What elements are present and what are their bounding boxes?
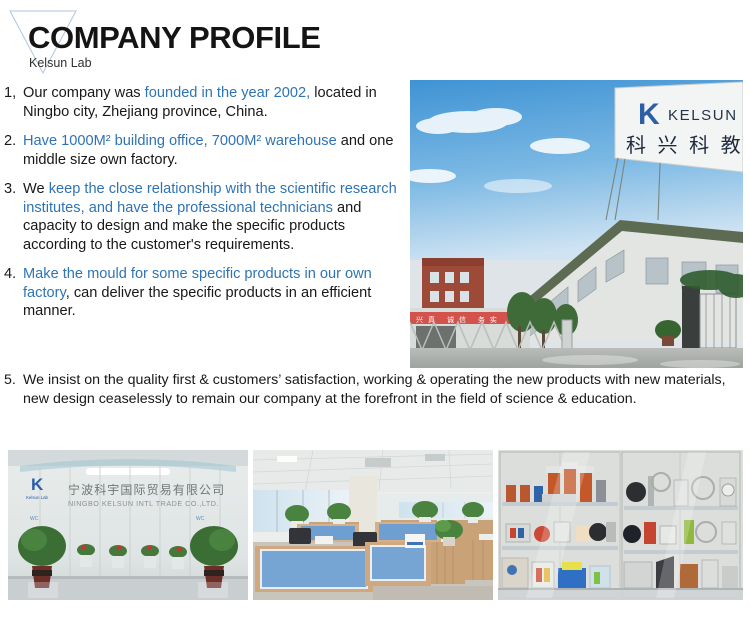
list-item-text: We keep the close relationship with the … bbox=[23, 180, 408, 254]
profile-list: 1,Our company was founded in the year 20… bbox=[4, 84, 408, 332]
text-segment: Have 1000M² building office, 7000M² ware… bbox=[23, 133, 337, 149]
profile-list-item: 3.We keep the close relationship with th… bbox=[4, 180, 408, 254]
svg-text:WC: WC bbox=[196, 516, 205, 522]
photo-factory-exterior: K KELSUN LAB 科 兴 科 教 兴真 诚信 务实 bbox=[410, 80, 743, 368]
list-item-text: Have 1000M² building office, 7000M² ware… bbox=[23, 132, 408, 169]
lobby-logo-letter: K bbox=[31, 475, 44, 494]
list-item-number: 5. bbox=[4, 371, 23, 390]
page-header: COMPANY PROFILE Kelsun Lab bbox=[0, 0, 420, 82]
profile-list-item: 1,Our company was founded in the year 20… bbox=[4, 84, 408, 121]
list-item-text: Our company was founded in the year 2002… bbox=[23, 84, 408, 121]
text-segment: founded in the year 2002, bbox=[145, 85, 311, 101]
list-item-number: 3. bbox=[4, 180, 23, 199]
page-subtitle: Kelsun Lab bbox=[29, 56, 92, 70]
lobby-sign-chinese: 宁波科宇国际贸易有限公司 bbox=[68, 482, 225, 497]
list-item-number: 1, bbox=[4, 84, 23, 103]
list-item-number: 4. bbox=[4, 265, 23, 284]
text-segment: Our company was bbox=[23, 85, 145, 101]
photo-product-display-shelves bbox=[498, 450, 743, 600]
factory-billboard-logo-letter: K bbox=[638, 98, 660, 131]
svg-text:WC: WC bbox=[30, 516, 39, 522]
factory-billboard-latin: KELSUN LAB bbox=[668, 107, 743, 124]
text-segment: We bbox=[23, 181, 49, 197]
photo-office-lobby: K Kelsun Lab 宁波科宇国际贸易有限公司 NINGBO KELSUN … bbox=[8, 450, 248, 600]
list-item-text: Make the mould for some specific product… bbox=[23, 265, 408, 321]
profile-list-item: 2.Have 1000M² building office, 7000M² wa… bbox=[4, 132, 408, 169]
lobby-sign-english: NINGBO KELSUN INTL TRADE CO.,LTD. bbox=[68, 499, 219, 508]
profile-list-item: 5.We insist on the quality first & custo… bbox=[4, 371, 732, 409]
factory-billboard-chinese: 科 兴 科 教 bbox=[626, 134, 743, 157]
profile-list-item-5-wrapper: 5.We insist on the quality first & custo… bbox=[4, 371, 732, 420]
page-title: COMPANY PROFILE bbox=[28, 20, 321, 56]
profile-list-item: 4.Make the mould for some specific produ… bbox=[4, 265, 408, 321]
company-profile-page: COMPANY PROFILE Kelsun Lab 1,Our company… bbox=[0, 0, 750, 620]
text-segment: We insist on the quality first & custome… bbox=[23, 372, 726, 407]
list-item-text: We insist on the quality first & custome… bbox=[23, 371, 732, 409]
photo-open-plan-office bbox=[253, 450, 493, 600]
text-segment: , can deliver the specific products in a… bbox=[23, 285, 371, 320]
lobby-logo-caption: Kelsun Lab bbox=[26, 495, 49, 500]
list-item-number: 2. bbox=[4, 132, 23, 151]
